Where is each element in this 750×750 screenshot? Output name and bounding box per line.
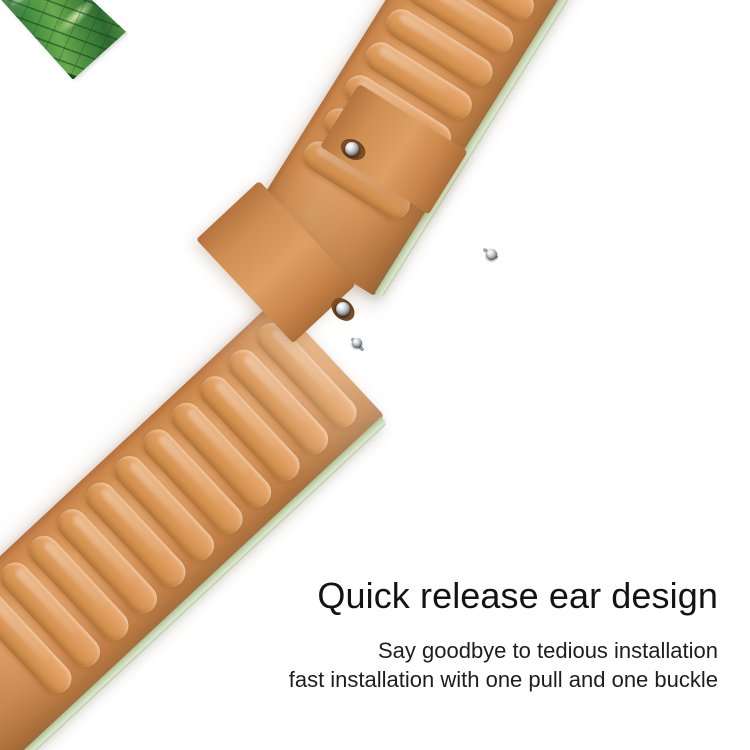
feature-subline-1: Say goodbye to tedious installation <box>378 637 718 664</box>
lower-strap-pin-lever-head <box>352 338 362 348</box>
product-image-canvas: Quick release ear design Say goodbye to … <box>0 0 750 750</box>
lower-strap-quick-release-pin <box>336 302 350 316</box>
upper-strap-quick-release-pin <box>345 142 359 156</box>
feature-headline: Quick release ear design <box>317 576 718 616</box>
leaf-corner-lower-mask <box>0 96 230 326</box>
upper-strap-pin-lever-head <box>486 249 497 260</box>
feature-subline-2: fast installation with one pull and one … <box>289 666 718 693</box>
